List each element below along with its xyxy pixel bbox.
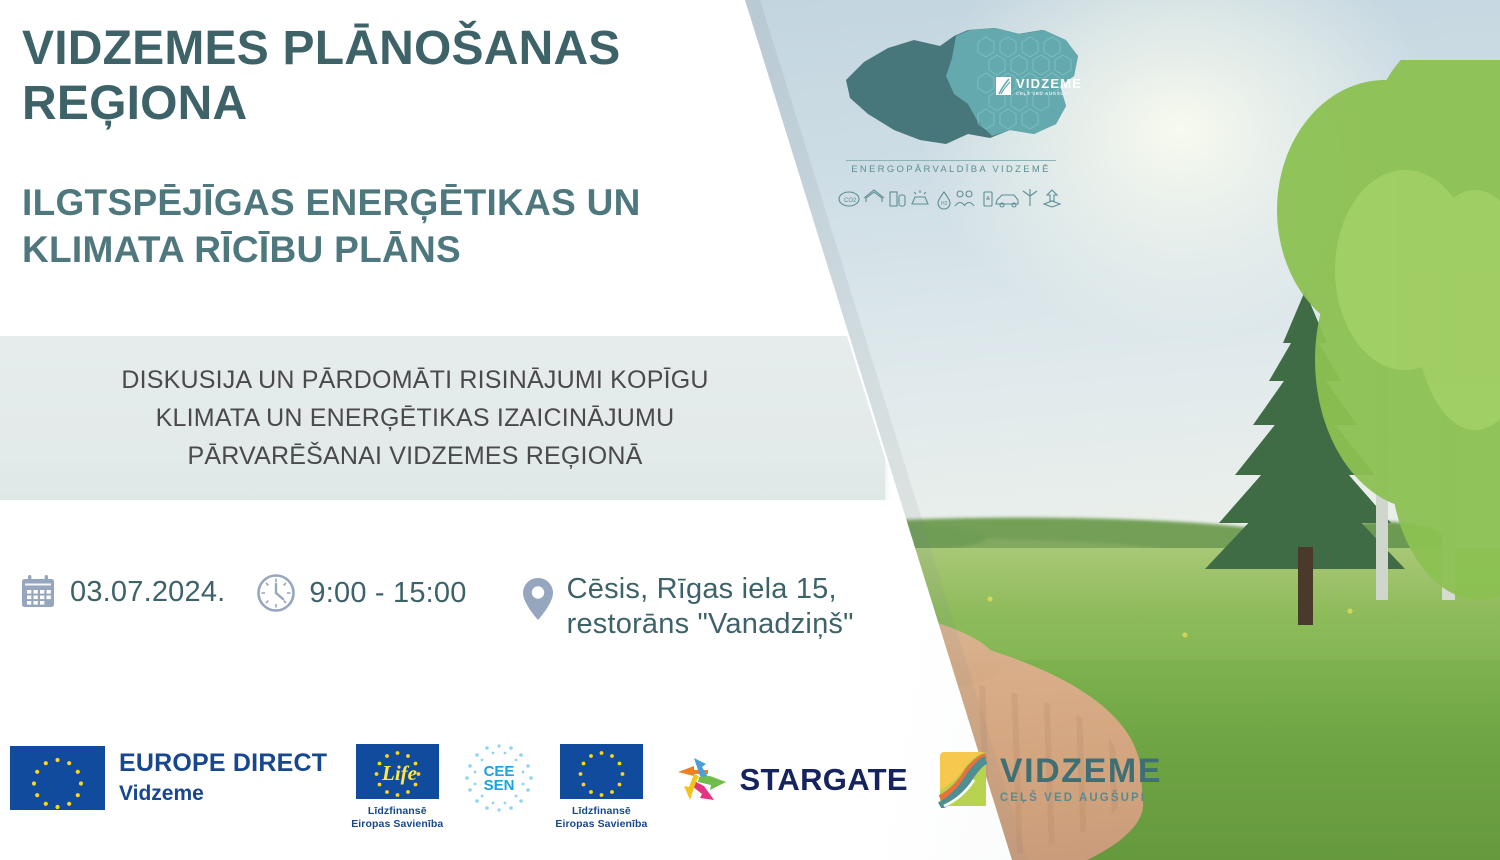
logo-eu-cofunded: Līdzfinansē Eiropas Savienība — [555, 744, 647, 831]
vidzeme-wordmark: VIDZEME — [1000, 754, 1162, 788]
logo-stargate: STARGATE — [674, 752, 908, 808]
eu-cofunded-flag-icon — [560, 744, 643, 799]
life-cofinance-note: Līdzfinansē Eiropas Savienība — [351, 805, 443, 831]
description-text: DISKUSIJA UN PĀRDOMĀTI RISINĀJUMI KOPĪGU… — [0, 336, 830, 500]
logo-europe-direct: EUROPE DIRECT Vidzeme — [10, 746, 327, 810]
description-band: DISKUSIJA UN PĀRDOMĀTI RISINĀJUMI KOPĪGU… — [0, 336, 885, 500]
page-title-line-2: REĢIONA — [22, 77, 742, 132]
ceesen-icon: CEE SEN — [461, 740, 537, 816]
event-time: 9:00 - 15:00 — [255, 572, 466, 614]
page-title-line-1: VIDZEMES PLĀNOŠANAS — [22, 22, 742, 77]
vidzeme-map-badge: VIDZEME CEĻŠ VED AUGŠUPI ENERGOPĀRVALDĪB… — [828, 18, 1118, 208]
energy-management-icon-row: CO2 H2 — [838, 184, 1066, 214]
event-location: Cēsis, Rīgas iela 15, restorāns "Vanadzi… — [521, 572, 854, 642]
location-pin-icon — [521, 576, 555, 622]
vidzeme-mark-icon — [938, 750, 990, 808]
stargate-wordmark: STARGATE — [740, 762, 908, 798]
vidzeme-mark-icon — [996, 77, 1011, 95]
clock-icon — [255, 572, 297, 614]
ceesen-line-2: SEN — [484, 777, 515, 794]
life-wordmark: Life — [381, 761, 417, 785]
svg-text:CO2: CO2 — [844, 198, 857, 204]
page-subtitle-line-1: ILGTSPĒJĪGAS ENERĢĒTIKAS UN — [22, 180, 742, 227]
vidzeme-tagline: CEĻŠ VED AUGŠUPI — [1000, 793, 1162, 805]
logo-life-programme: Life Līdzfinansē Eiropas Savienība — [351, 744, 443, 831]
page-subtitle: ILGTSPĒJĪGAS ENERĢĒTIKAS UN KLIMATA RĪCĪ… — [22, 180, 742, 274]
vidzeme-map-brand-name: VIDZEME — [1016, 76, 1082, 91]
birch-trees — [1180, 60, 1500, 620]
eu-cofinance-note: Līdzfinansē Eiropas Savienība — [555, 805, 647, 831]
event-time-text: 9:00 - 15:00 — [309, 576, 466, 611]
vidzeme-map-brand-tagline: CEĻŠ VED AUGŠUPI — [1016, 91, 1082, 96]
life-eu-flag-icon: Life — [356, 744, 439, 799]
europe-direct-line-2: Vidzeme — [119, 782, 327, 807]
event-info-row: 03.07.2024. 9:00 - 15:00 — [18, 572, 854, 642]
map-badge-caption: ENERGOPĀRVALDĪBA VIDZEMĒ — [846, 160, 1056, 175]
vidzeme-map-brand: VIDZEME CEĻŠ VED AUGŠUPI — [996, 76, 1082, 96]
eu-flag-icon — [10, 746, 105, 810]
event-date: 03.07.2024. — [18, 572, 225, 612]
event-date-text: 03.07.2024. — [70, 575, 225, 610]
logo-ceesen: CEE SEN — [461, 740, 537, 816]
description-line-1: DISKUSIJA UN PĀRDOMĀTI RISINĀJUMI KOPĪGU — [121, 361, 708, 399]
svg-text:H2: H2 — [941, 201, 948, 207]
logo-strip: EUROPE DIRECT Vidzeme Life Līdzfinans — [10, 738, 1162, 831]
page-subtitle-line-2: KLIMATA RĪCĪBU PLĀNS — [22, 227, 742, 274]
description-line-2: KLIMATA UN ENERĢĒTIKAS IZAICINĀJUMU — [156, 399, 675, 437]
stargate-pinwheel-icon — [674, 752, 736, 808]
event-location-text: Cēsis, Rīgas iela 15, restorāns "Vanadzi… — [567, 572, 854, 642]
page-title: VIDZEMES PLĀNOŠANAS REĢIONA — [22, 22, 742, 131]
description-line-3: PĀRVARĒŠANAI VIDZEMES REĢIONĀ — [188, 437, 643, 475]
event-poster: VIDZEME CEĻŠ VED AUGŠUPI ENERGOPĀRVALDĪB… — [0, 0, 1500, 860]
logo-vidzeme: VIDZEME CEĻŠ VED AUGŠUPI — [938, 750, 1162, 808]
europe-direct-line-1: EUROPE DIRECT — [119, 749, 327, 779]
calendar-icon — [18, 572, 58, 612]
